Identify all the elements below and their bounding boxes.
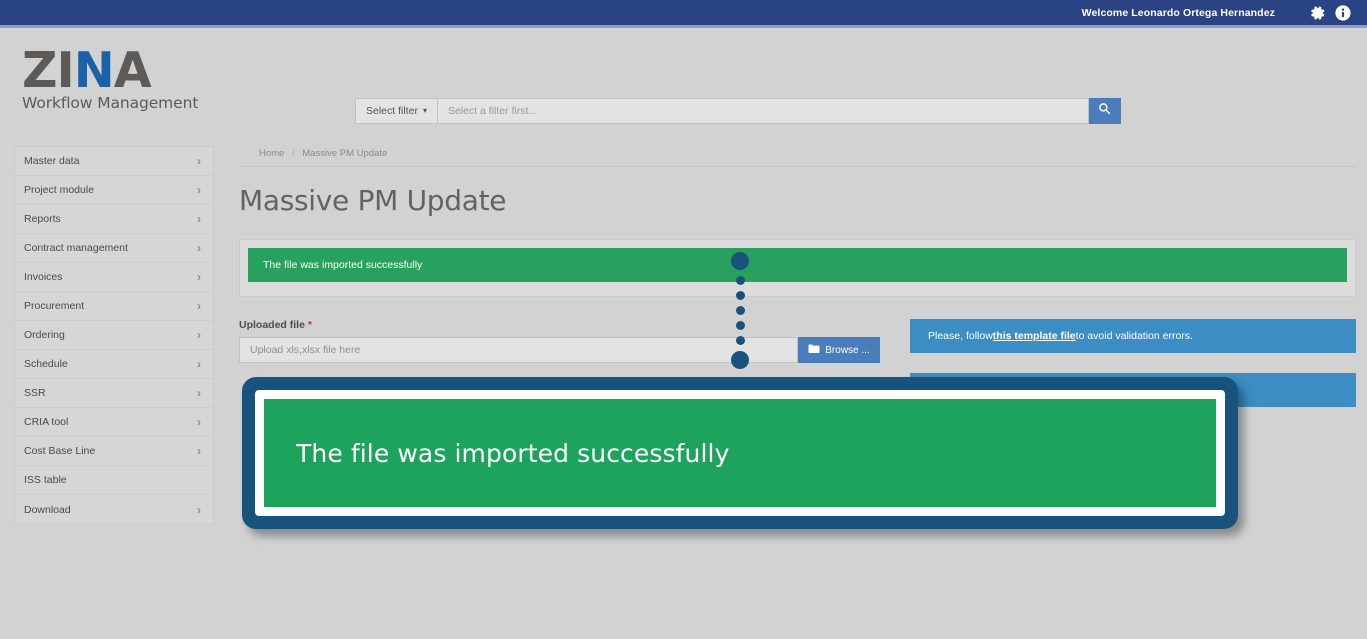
welcome-message: Welcome Leonardo Ortega Hernandez	[1082, 7, 1275, 19]
browse-button-label: Browse ...	[825, 345, 869, 356]
sidebar-item-label: ISS table	[24, 474, 67, 486]
app-root: Welcome Leonardo Ortega Hernandez ZINA W…	[0, 0, 1367, 639]
filter-search-bar: Select filter ▾	[355, 98, 1121, 124]
chevron-right-icon: ›	[197, 504, 201, 516]
connector-dot	[736, 306, 745, 315]
sidebar-item-label: Master data	[24, 155, 79, 167]
search-icon	[1098, 102, 1111, 120]
sidebar-item-iss-table[interactable]: ISS table	[15, 466, 213, 495]
sidebar-item-label: Ordering	[24, 329, 65, 341]
magnified-callout: The file was imported successfully	[242, 377, 1238, 529]
callout-inner-frame: The file was imported successfully	[255, 390, 1225, 516]
sidebar-item-label: SSR	[24, 387, 46, 399]
sidebar-item-reports[interactable]: Reports ›	[15, 205, 213, 234]
info-text-before: Please, follow	[928, 330, 993, 342]
breadcrumb-home-link[interactable]: Home	[259, 148, 284, 159]
chevron-right-icon: ›	[197, 155, 201, 167]
filter-search-input[interactable]	[437, 98, 1089, 124]
logo-tagline: Workflow Management	[22, 94, 222, 112]
sidebar-item-project-module[interactable]: Project module ›	[15, 176, 213, 205]
chevron-right-icon: ›	[197, 184, 201, 196]
template-info-panel: Please, follow this template file to avo…	[910, 319, 1356, 353]
page-title: Massive PM Update	[239, 167, 1356, 217]
sidebar-item-schedule[interactable]: Schedule ›	[15, 350, 213, 379]
chevron-right-icon: ›	[197, 242, 201, 254]
sidebar-item-ordering[interactable]: Ordering ›	[15, 321, 213, 350]
connector-dot	[736, 291, 745, 300]
info-text-after: to avoid validation errors.	[1076, 330, 1193, 342]
logo-text-zi: ZI	[22, 42, 74, 99]
chevron-right-icon: ›	[197, 213, 201, 225]
logo-text-n: N	[74, 42, 114, 99]
sidebar-item-cost-base-line[interactable]: Cost Base Line ›	[15, 437, 213, 466]
chevron-right-icon: ›	[197, 387, 201, 399]
sidebar-item-label: Download	[24, 504, 71, 516]
callout-success-box: The file was imported successfully	[264, 399, 1216, 507]
main-content: Home / Massive PM Update Massive PM Upda…	[239, 140, 1356, 407]
success-alert: The file was imported successfully	[248, 248, 1347, 282]
breadcrumb-separator: /	[292, 148, 295, 159]
sidebar-item-download[interactable]: Download ›	[15, 495, 213, 524]
chevron-right-icon: ›	[197, 300, 201, 312]
chevron-right-icon: ›	[197, 271, 201, 283]
breadcrumb-current: Massive PM Update	[302, 148, 387, 159]
info-circle-icon[interactable]	[1333, 3, 1353, 23]
sidebar-item-label: Contract management	[24, 242, 128, 254]
select-filter-label: Select filter	[366, 105, 418, 117]
sidebar-item-procurement[interactable]: Procurement ›	[15, 292, 213, 321]
sidebar-item-master-data[interactable]: Master data ›	[15, 147, 213, 176]
sidebar-item-contract-management[interactable]: Contract management ›	[15, 234, 213, 263]
sidebar-item-label: Cost Base Line	[24, 445, 95, 457]
gear-icon[interactable]	[1307, 3, 1327, 23]
logo-text-a: A	[114, 42, 151, 99]
sidebar-item-ssr[interactable]: SSR ›	[15, 379, 213, 408]
sidebar-item-cria-tool[interactable]: CRIA tool ›	[15, 408, 213, 437]
top-navbar: Welcome Leonardo Ortega Hernandez	[0, 0, 1367, 28]
sidebar-item-label: Invoices	[24, 271, 63, 283]
select-filter-dropdown[interactable]: Select filter ▾	[355, 98, 437, 124]
upload-file-input[interactable]	[239, 337, 798, 363]
chevron-right-icon: ›	[197, 416, 201, 428]
chevron-right-icon: ›	[197, 445, 201, 457]
sidebar-item-label: CRIA tool	[24, 416, 68, 428]
chevron-down-icon: ▾	[423, 107, 427, 115]
zina-logo: ZINA Workflow Management	[22, 46, 222, 112]
success-alert-text: The file was imported successfully	[263, 259, 422, 271]
connector-dot-anchor-top	[731, 252, 749, 270]
sidebar-item-label: Procurement	[24, 300, 84, 312]
connector-dot	[736, 276, 745, 285]
template-file-link[interactable]: this template file	[993, 330, 1076, 342]
chevron-right-icon: ›	[197, 329, 201, 341]
callout-success-text: The file was imported successfully	[296, 439, 729, 468]
callout-connector-dots	[731, 252, 749, 369]
sidebar-item-invoices[interactable]: Invoices ›	[15, 263, 213, 292]
sidebar-item-label: Schedule	[24, 358, 68, 370]
connector-dot	[736, 321, 745, 330]
chevron-right-icon: ›	[197, 358, 201, 370]
uploaded-file-label-text: Uploaded file	[239, 319, 305, 331]
uploaded-file-label: Uploaded file *	[239, 319, 880, 331]
upload-input-group: Browse ...	[239, 337, 880, 363]
search-button[interactable]	[1089, 98, 1121, 124]
connector-dot	[736, 336, 745, 345]
sidebar-item-label: Reports	[24, 213, 61, 225]
breadcrumb: Home / Massive PM Update	[239, 140, 1356, 167]
browse-button[interactable]: Browse ...	[798, 337, 880, 363]
sidebar-nav: Master data › Project module › Reports ›…	[14, 146, 214, 525]
logo-wordmark: ZINA	[22, 46, 222, 96]
page-header: ZINA Workflow Management Select filter ▾	[0, 31, 1367, 126]
sidebar-item-label: Project module	[24, 184, 94, 196]
connector-dot-anchor-bottom	[731, 351, 749, 369]
alert-panel: The file was imported successfully	[239, 239, 1356, 297]
required-asterisk: *	[308, 319, 312, 331]
folder-icon	[808, 344, 820, 357]
